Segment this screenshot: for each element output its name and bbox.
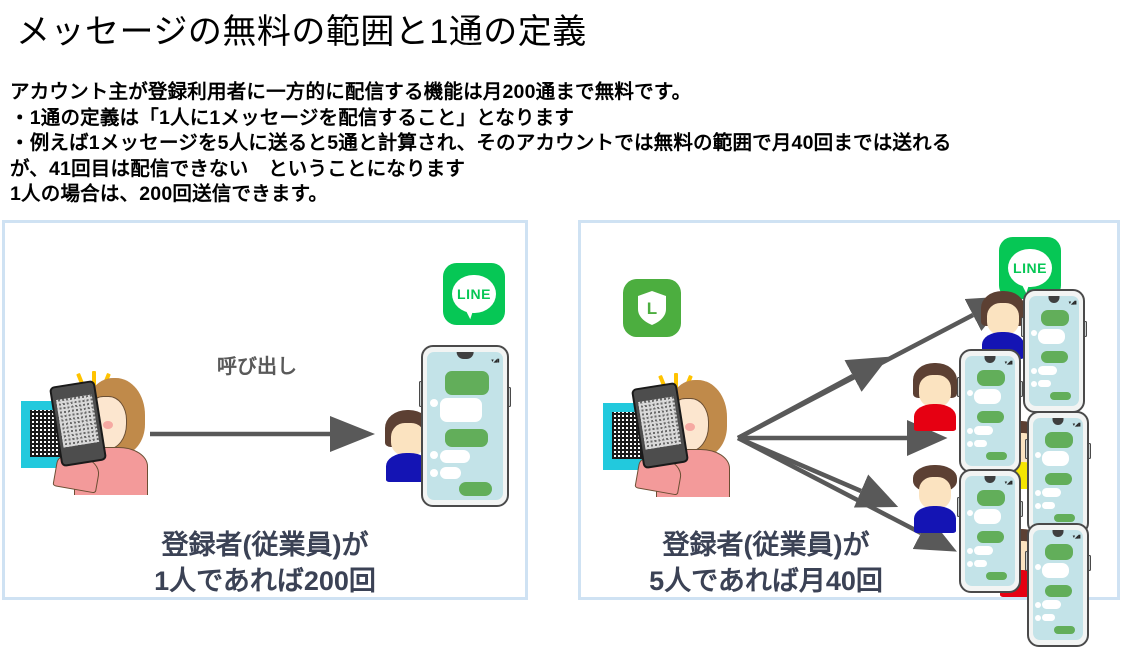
chat-avatar-dot (1031, 368, 1037, 374)
body-line-4: が、41回目は配信できない ということになります (10, 157, 952, 183)
chat-bubble-incoming (1042, 614, 1055, 622)
phone-side-button (957, 497, 960, 517)
chat-avatar-dot (1035, 602, 1041, 608)
panel-single-registrant: LINE 呼び出し (2, 220, 528, 600)
slide-root: メッセージの無料の範囲と1通の定義 アカウント主が登録利用者に一方的に配信する機… (0, 0, 1123, 597)
chat-bubble-outgoing (445, 371, 489, 395)
chat-bubble-incoming (1042, 502, 1055, 510)
chat-bubble-incoming (974, 440, 987, 448)
chat-bubble-incoming (1038, 366, 1057, 375)
chat-avatar-dot (967, 510, 973, 516)
chat-avatar-dot (967, 441, 973, 447)
chat-bubble-outgoing (986, 572, 1007, 581)
phone-status-bar: ▾◢▮ (491, 358, 499, 364)
chat-avatar-dot (1035, 564, 1041, 570)
callout-label-left: 呼び出し (217, 350, 297, 379)
chat-avatar-dot (1035, 503, 1041, 509)
chat-bubble-outgoing (977, 370, 1005, 385)
chat-bubble-incoming (974, 560, 987, 568)
phone-chat-screen: ▾◢▮ (1029, 296, 1079, 406)
chat-bubble-incoming (440, 398, 483, 422)
phone-notch (1049, 296, 1060, 303)
recipient-phone: ▾◢▮ (959, 349, 1021, 473)
chat-bubble-outgoing (977, 411, 1004, 423)
caption-line-2: 1人であれば200回 (5, 563, 525, 599)
chat-bubble-outgoing (445, 429, 488, 447)
chat-bubble-outgoing (459, 482, 492, 495)
phone-status-bar: ▾◢▮ (1069, 300, 1077, 306)
chat-bubble-incoming (974, 389, 1001, 404)
phone-side-button (957, 377, 960, 397)
qr-scanning-person-illustration (603, 373, 735, 497)
chat-avatar-dot (430, 399, 438, 407)
phone-side-button (419, 381, 422, 407)
line-official-account-icon: L (623, 279, 681, 337)
smartphone-qr-screen (639, 397, 681, 450)
avatar-face (987, 303, 1019, 334)
arrow-to-recipient-2 (738, 376, 853, 438)
qr-scanning-person-illustration (21, 371, 153, 495)
avatar-face (919, 477, 951, 508)
line-bubble-shape: LINE (1008, 249, 1053, 287)
arrow-to-recipient-5 (738, 438, 921, 533)
panel-caption-right: 登録者(従業員)が 5人であれば月40回 (581, 527, 951, 599)
chat-bubble-incoming (1042, 451, 1069, 466)
chat-avatar-dot (967, 548, 973, 554)
chat-bubble-outgoing (1045, 585, 1072, 597)
chat-bubble-incoming (1042, 563, 1069, 578)
chat-avatar-dot (1031, 330, 1037, 336)
chat-avatar-dot (967, 561, 973, 567)
chat-bubble-incoming (440, 467, 461, 479)
chat-bubble-incoming (974, 426, 993, 435)
phone-status-bar: ▾◢▮ (1005, 360, 1013, 366)
chat-avatar-dot (1035, 490, 1041, 496)
avatar-face (919, 375, 951, 406)
avatar-face (391, 423, 424, 456)
recipient-phone: ▾◢▮ (1027, 411, 1089, 535)
body-line-3: ・例えば1メッセージを5人に送ると5通と計算され、そのアカウントでは無料の範囲で… (10, 131, 952, 157)
phone-chat-screen: ▾◢▮ (427, 352, 503, 500)
chat-bubble-outgoing (1050, 392, 1071, 401)
phone-side-button (1025, 551, 1028, 571)
arrow-to-recipient-4 (738, 438, 861, 491)
phone-side-button (1025, 439, 1028, 459)
phone-status-bar: ▾◢▮ (1073, 534, 1081, 540)
chat-avatar-dot (1035, 615, 1041, 621)
recipient-phone: ▾◢▮ (1027, 523, 1089, 647)
phone-notch (985, 476, 996, 483)
phone-chat-screen: ▾◢▮ (1033, 418, 1083, 528)
smartphone-qr-screen (57, 395, 99, 448)
chat-avatar-dot (1035, 452, 1041, 458)
phone-side-button (1088, 443, 1091, 459)
chat-bubble-incoming (1038, 329, 1065, 344)
line-app-icon: LINE (443, 263, 505, 325)
phone-notch (985, 356, 996, 363)
chat-avatar-dot (967, 428, 973, 434)
chat-avatar-dot (967, 390, 973, 396)
body-line-2: ・1通の定義は「1人に1メッセージを配信すること」となります (10, 106, 952, 132)
caption-line-1: 登録者(従業員)が (5, 527, 525, 563)
phone-side-button (1084, 321, 1087, 337)
recipient-phone: ▾◢▮ (421, 345, 509, 507)
line-icon-label: LINE (1008, 260, 1053, 276)
phone-side-button (508, 387, 511, 407)
phone-chat-screen: ▾◢▮ (965, 356, 1015, 466)
chat-bubble-incoming (1042, 488, 1061, 497)
chat-bubble-incoming (974, 546, 993, 555)
phone-chat-screen: ▾◢▮ (965, 476, 1015, 586)
chat-avatar-dot (1031, 381, 1037, 387)
svg-text:L: L (647, 299, 657, 318)
phone-status-bar: ▾◢▮ (1073, 422, 1081, 428)
chat-bubble-outgoing (986, 452, 1007, 461)
phone-status-bar: ▾◢▮ (1005, 480, 1013, 486)
body-line-5: 1人の場合は、200回送信できます。 (10, 182, 952, 208)
caption-line-2: 5人であれば月40回 (581, 563, 951, 599)
chat-bubble-outgoing (1045, 473, 1072, 485)
chat-avatar-dot (430, 469, 438, 477)
chat-avatar-dot (430, 451, 438, 459)
caption-line-1: 登録者(従業員)が (581, 527, 951, 563)
chat-bubble-outgoing (1041, 351, 1068, 363)
chat-bubble-outgoing (1045, 544, 1073, 559)
line-icon-label: LINE (452, 286, 497, 302)
phone-notch (457, 352, 474, 359)
phone-notch (1053, 530, 1064, 537)
recipient-avatar (913, 363, 957, 431)
phone-chat-screen: ▾◢▮ (1033, 530, 1083, 640)
body-line-1: アカウント主が登録利用者に一方的に配信する機能は月200通まで無料です。 (10, 80, 952, 106)
recipient-phone: ▾◢▮ (1023, 289, 1085, 413)
page-title: メッセージの無料の範囲と1通の定義 (16, 4, 587, 53)
chat-bubble-outgoing (1054, 514, 1075, 523)
chat-bubble-outgoing (977, 531, 1004, 543)
chat-bubble-incoming (974, 509, 1001, 524)
panel-five-registrants: L LINE (578, 220, 1120, 600)
phone-side-button (1088, 555, 1091, 571)
panel-caption-left: 登録者(従業員)が 1人であれば200回 (5, 527, 525, 599)
chat-bubble-outgoing (1041, 310, 1069, 325)
recipient-avatar (913, 465, 957, 533)
recipient-phone: ▾◢▮ (959, 469, 1021, 593)
chat-bubble-incoming (1038, 380, 1051, 388)
chat-bubble-outgoing (977, 490, 1005, 505)
body-text-block: アカウント主が登録利用者に一方的に配信する機能は月200通まで無料です。 ・1通… (10, 80, 952, 208)
chat-bubble-incoming (1042, 600, 1061, 609)
avatar-body (914, 404, 956, 431)
phone-side-button (1021, 317, 1024, 337)
shield-icon: L (636, 290, 668, 326)
phone-notch (1053, 418, 1064, 425)
line-bubble-shape: LINE (452, 275, 497, 313)
chat-bubble-outgoing (1054, 626, 1075, 635)
phone-side-button (1020, 501, 1023, 517)
phone-side-button (1020, 381, 1023, 397)
chat-bubble-outgoing (1045, 432, 1073, 447)
chat-bubble-incoming (440, 450, 470, 463)
